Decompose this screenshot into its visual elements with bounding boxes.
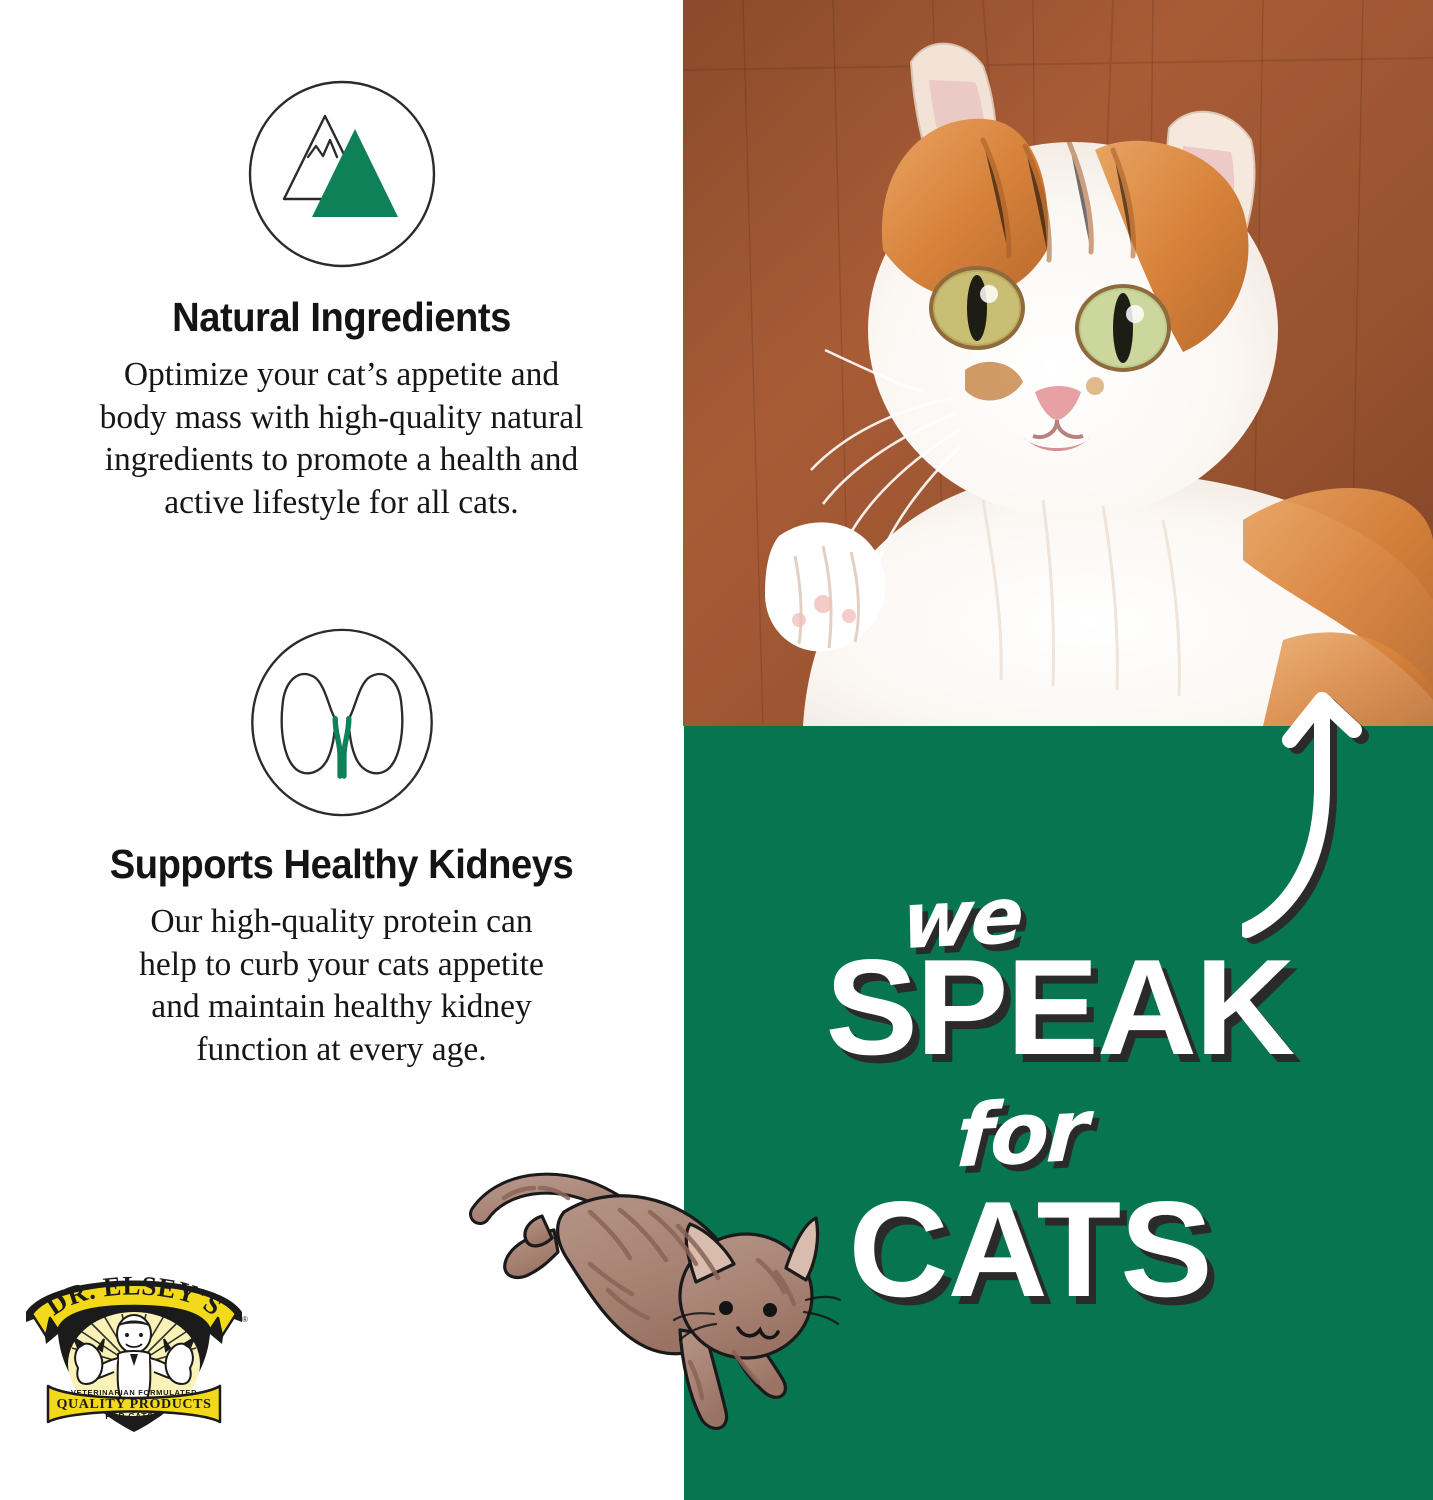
feature-body: Our high-quality protein can help to cur… <box>22 901 662 1071</box>
feature-natural-ingredients: Natural Ingredients Optimize your cat’s … <box>0 78 683 524</box>
kidneys-icon <box>247 625 437 820</box>
cat-photo <box>683 0 1433 726</box>
logo-registered-mark: ® <box>242 1315 248 1324</box>
dr-elseys-logo: DR. ELSEY'S ® <box>14 1262 254 1440</box>
leaping-cat-illustration <box>468 1168 858 1436</box>
logo-banner-line-3: FOR CATS™ <box>105 1411 163 1421</box>
feature-supports-healthy-kidneys: Supports Healthy Kidneys Our high-qualit… <box>0 625 683 1071</box>
feature-body: Optimize your cat’s appetite and body ma… <box>22 354 662 524</box>
feature-body-line: body mass with high-quality natural <box>22 397 662 440</box>
slogan-word-speak: SPEAK <box>825 939 1293 1075</box>
feature-body-line: function at every age. <box>22 1029 662 1072</box>
slogan-word-for: for <box>953 1080 1088 1187</box>
feature-title: Natural Ingredients <box>24 295 659 340</box>
product-infographic-page: Natural Ingredients Optimize your cat’s … <box>0 0 1433 1500</box>
feature-body-line: help to curb your cats appetite <box>22 944 662 987</box>
logo-cat-right <box>164 1338 194 1384</box>
feature-body-line: Optimize your cat’s appetite and <box>22 354 662 397</box>
feature-body-line: Our high-quality protein can <box>22 901 662 944</box>
logo-cat-left <box>74 1338 104 1384</box>
logo-banner-line-2: QUALITY PRODUCTS <box>57 1397 212 1412</box>
feature-body-line: active lifestyle for all cats. <box>22 482 662 525</box>
slogan-word-cats: CATS <box>848 1181 1211 1317</box>
feature-title: Supports Healthy Kidneys <box>24 842 659 887</box>
feature-body-line: ingredients to promote a health and <box>22 439 662 482</box>
mountain-icon <box>247 78 437 273</box>
logo-banner-line-1: VETERINARIAN FORMULATED <box>71 1388 197 1397</box>
feature-body-line: and maintain healthy kidney <box>22 986 662 1029</box>
